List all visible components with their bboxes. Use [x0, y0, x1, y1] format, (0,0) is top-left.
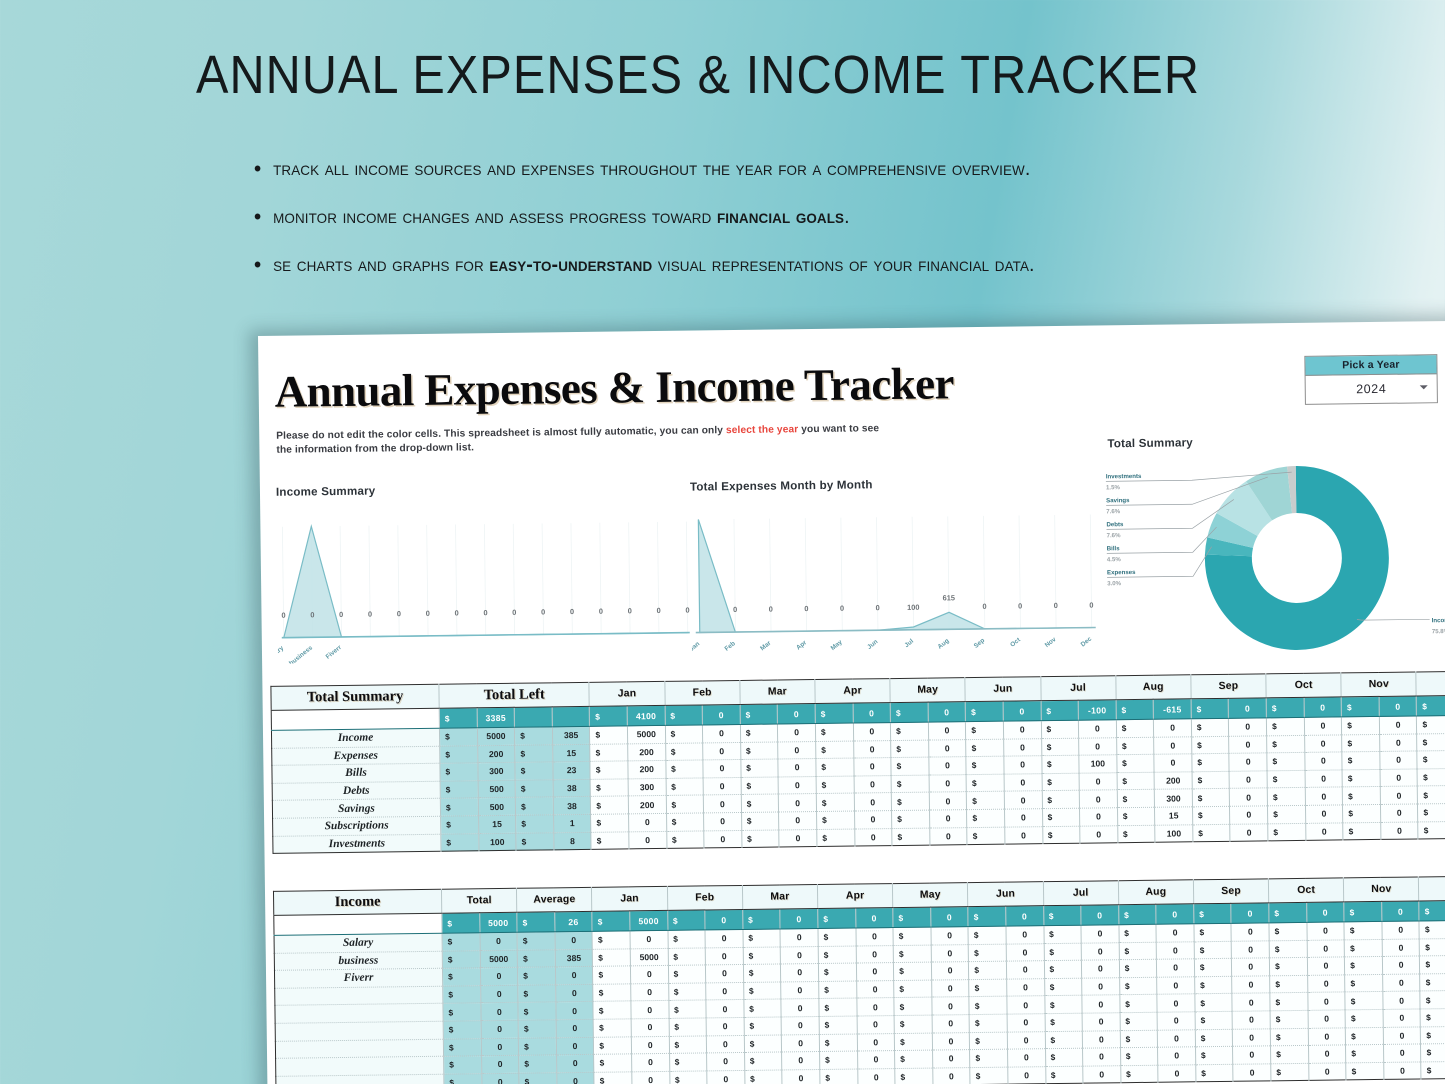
- cell-currency: $: [590, 743, 628, 761]
- svg-text:0: 0: [599, 607, 603, 616]
- row-label: [275, 1004, 443, 1024]
- cell-value: 0: [931, 962, 969, 980]
- svg-text:0: 0: [804, 604, 808, 613]
- cell-currency: $: [893, 927, 931, 945]
- cell-currency: $: [1193, 824, 1231, 842]
- cell-currency: $: [815, 723, 853, 741]
- cell-value: 0: [778, 704, 816, 724]
- cell-currency: $: [668, 983, 706, 1001]
- cell-currency: $: [965, 701, 1003, 721]
- cell-value: 0: [855, 908, 893, 928]
- cell-currency: $: [1042, 791, 1080, 809]
- cell-currency: $: [594, 1036, 632, 1054]
- cell-currency: $: [517, 949, 555, 967]
- svg-text:0: 0: [733, 605, 737, 614]
- cell-value: 0: [853, 758, 891, 776]
- cell-currency: $: [1192, 771, 1230, 789]
- cell-value: 0: [782, 1069, 820, 1084]
- cell-currency: $: [743, 964, 781, 982]
- cell-value: 0: [1007, 1014, 1045, 1032]
- cell-value: 0: [629, 831, 667, 849]
- cell-currency: $: [592, 911, 630, 931]
- cell-currency: $: [669, 1035, 707, 1053]
- cell-currency: $: [1117, 754, 1155, 772]
- feature-bullet: se charts and graphs for easy-to-underst…: [252, 248, 1145, 282]
- cell-currency: $: [440, 798, 478, 816]
- cell-currency: $: [590, 726, 628, 744]
- svg-text:Mar: Mar: [759, 639, 773, 652]
- cell-currency: $: [441, 833, 479, 851]
- cell-value: 100: [1079, 755, 1117, 773]
- cell-currency: $: [1268, 823, 1306, 841]
- chart-income-summary: Income Summary 000000000000000 Salarybus…: [276, 481, 698, 671]
- cell-value: 0: [1383, 1044, 1421, 1062]
- cell-value: 0: [1005, 826, 1043, 844]
- cell-currency: $: [1345, 957, 1383, 975]
- column-header-may: May: [893, 883, 968, 908]
- cell-value: 0: [1082, 960, 1120, 978]
- cell-currency: $: [440, 781, 478, 799]
- cell-currency: $: [1269, 940, 1307, 958]
- column-header-feb: Feb: [667, 885, 742, 910]
- cell-currency: $: [440, 745, 478, 763]
- column-header-jun: Jun: [968, 882, 1043, 907]
- cell-currency: $: [1343, 787, 1381, 805]
- column-header-apr: Apr: [817, 884, 892, 909]
- cell-currency: $: [442, 968, 480, 986]
- cell-value: 0: [1080, 808, 1118, 826]
- cell-currency: $: [516, 797, 554, 815]
- row-label: [275, 1021, 443, 1041]
- cell-value: 0: [1232, 958, 1270, 976]
- cell-currency: $: [518, 967, 556, 985]
- cell-value: 0: [1380, 751, 1418, 769]
- cell-value: 0: [1233, 1064, 1271, 1082]
- cell-currency: $: [1344, 921, 1382, 939]
- cell-value: 0: [1004, 738, 1042, 756]
- cell-value: 0: [707, 1053, 745, 1071]
- cell-currency: $: [1343, 822, 1381, 840]
- cell-value: 0: [1308, 1010, 1346, 1028]
- cell-value: 0: [1382, 901, 1420, 921]
- cell-currency: $: [515, 744, 553, 762]
- cell-currency: $: [968, 906, 1006, 926]
- cell-value: 5000: [480, 950, 518, 968]
- cell-value: 0: [856, 963, 894, 981]
- cell-value: 300: [628, 778, 666, 796]
- cell-currency: $: [1419, 920, 1445, 938]
- cell-value: 385: [552, 726, 590, 744]
- table-corner-label: Income: [273, 889, 441, 915]
- cell-value: 0: [779, 794, 817, 812]
- cell-value: 0: [1306, 902, 1344, 922]
- cell-currency: $: [816, 741, 854, 759]
- cell-currency: $: [1345, 1009, 1383, 1027]
- svg-text:0: 0: [982, 602, 986, 611]
- cell-currency: $: [1419, 900, 1445, 920]
- svg-text:Sep: Sep: [973, 637, 987, 650]
- cell-currency: $: [1045, 1066, 1083, 1084]
- cell-value: 0: [1078, 720, 1116, 738]
- row-label: Bills: [272, 763, 440, 783]
- cell-value: 0: [853, 703, 891, 723]
- cell-currency: $: [1191, 698, 1229, 718]
- cell-value: 0: [1081, 925, 1119, 943]
- cell-currency: $: [1042, 773, 1080, 791]
- cell-currency: $: [1117, 825, 1155, 843]
- cell-currency: $: [1420, 938, 1445, 956]
- cell-currency: $: [1345, 992, 1383, 1010]
- svg-text:Nov: Nov: [1044, 636, 1058, 649]
- cell-value: 0: [780, 909, 818, 929]
- cell-value: 0: [781, 999, 819, 1017]
- cell-currency: $: [444, 1056, 482, 1074]
- cell-value: 0: [1157, 977, 1195, 995]
- column-header-sep: Sep: [1193, 879, 1268, 904]
- cell-value: 0: [705, 909, 743, 929]
- feature-bullet: Track all income sources and expenses th…: [252, 152, 1145, 186]
- svg-text:Apr: Apr: [795, 639, 808, 652]
- column-header-total-left: Total Left: [439, 682, 590, 708]
- cell-value: 0: [1233, 1046, 1271, 1064]
- svg-text:0: 0: [281, 611, 285, 620]
- cell-currency: $: [442, 913, 480, 933]
- cell-currency: $: [818, 928, 856, 946]
- cell-value: 0: [705, 929, 743, 947]
- cell-value: 0: [1305, 770, 1343, 788]
- chevron-down-icon: [1420, 385, 1428, 389]
- cell-currency: $: [440, 763, 478, 781]
- cell-value: 0: [1229, 735, 1267, 753]
- cell-currency: $: [518, 1020, 556, 1038]
- cell-value: -100: [1078, 700, 1116, 720]
- cell-currency: $: [1421, 1061, 1445, 1079]
- cell-value: 0: [1157, 994, 1195, 1012]
- svg-text:Fiverr: Fiverr: [325, 644, 344, 661]
- cell-currency: $: [665, 705, 703, 725]
- cell-currency: $: [816, 758, 854, 776]
- cell-value: 0: [632, 1071, 670, 1084]
- cell-currency: $: [593, 966, 631, 984]
- cell-value: 0: [1158, 1065, 1196, 1083]
- cell-value: 8: [554, 832, 592, 850]
- cell-currency: $: [1120, 995, 1158, 1013]
- cell-value: 0: [706, 965, 744, 983]
- cell-currency: $: [1345, 974, 1383, 992]
- cell-value: 0: [1154, 754, 1192, 772]
- cell-currency: $: [591, 814, 629, 832]
- svg-text:Debts: Debts: [1106, 521, 1124, 528]
- cell-currency: $: [519, 1037, 557, 1055]
- cell-value: 0: [932, 1050, 970, 1068]
- note-highlight: select the year: [726, 424, 798, 436]
- svg-text:Jan: Jan: [690, 641, 701, 653]
- cell-value: 3385: [477, 707, 515, 727]
- cell-currency: $: [1117, 772, 1155, 790]
- cell-currency: $: [668, 930, 706, 948]
- cell-currency: $: [891, 722, 929, 740]
- svg-text:0: 0: [685, 606, 689, 615]
- svg-text:May: May: [830, 639, 844, 653]
- cell-currency: $: [1417, 715, 1445, 733]
- cell-currency: $: [1269, 958, 1307, 976]
- cell-value: 0: [557, 1072, 595, 1084]
- cell-currency: $: [665, 743, 703, 761]
- svg-text:615: 615: [943, 593, 955, 602]
- cell-value: 0: [1158, 1029, 1196, 1047]
- cell-value: 15: [478, 815, 516, 833]
- cell-currency: $: [818, 908, 856, 928]
- cell-value: 0: [778, 724, 816, 742]
- cell-currency: $: [893, 907, 931, 927]
- year-dropdown[interactable]: 2024: [1306, 374, 1437, 404]
- cell-value: 0: [704, 812, 742, 830]
- svg-text:Bills: Bills: [1107, 545, 1121, 552]
- cell-currency: $: [1196, 1064, 1234, 1082]
- cell-value: 0: [706, 1017, 744, 1035]
- cell-currency: $: [1116, 737, 1154, 755]
- cell-value: 0: [854, 775, 892, 793]
- cell-value: 0: [1004, 756, 1042, 774]
- cell-currency: $: [818, 946, 856, 964]
- row-label: Debts: [272, 781, 440, 801]
- cell-currency: $: [1192, 806, 1230, 824]
- cell-value: 0: [1081, 905, 1119, 925]
- cell-value: 0: [480, 932, 518, 950]
- cell-currency: $: [1420, 956, 1445, 974]
- cell-value: 0: [780, 929, 818, 947]
- cell-value: 0: [929, 792, 967, 810]
- cell-currency: $: [1044, 978, 1082, 996]
- svg-text:Aug: Aug: [937, 637, 951, 650]
- cell-currency: $: [1343, 804, 1381, 822]
- cell-value: 0: [857, 1016, 895, 1034]
- cell-currency: $: [745, 1070, 783, 1084]
- cell-currency: $: [1119, 977, 1157, 995]
- cell-currency: $: [1342, 734, 1380, 752]
- cell-currency: $: [591, 831, 629, 849]
- cell-currency: $: [1191, 718, 1229, 736]
- cell-currency: $: [515, 780, 553, 798]
- cell-value: 0: [932, 997, 970, 1015]
- cell-currency: $: [667, 910, 705, 930]
- cell-currency: $: [968, 926, 1006, 944]
- pick-a-year-widget[interactable]: Pick a Year 2024: [1304, 354, 1438, 405]
- row-label: Expenses: [272, 746, 440, 766]
- cell-currency: $: [1195, 1046, 1233, 1064]
- spreadsheet-title: Annual Expenses & Income Tracker: [274, 357, 954, 418]
- cell-value: 0: [1079, 773, 1117, 791]
- cell-value: 0: [630, 930, 668, 948]
- cell-value: 0: [857, 1051, 895, 1069]
- cell-currency: $: [1041, 720, 1079, 738]
- cell-value: 200: [1154, 772, 1192, 790]
- table-income-body: Total$5000$26$5000$0$0$0$0$0$0$0$0$0$0$0…: [274, 900, 1445, 1084]
- cell-currency: $: [1191, 736, 1229, 754]
- cell-currency: $: [1042, 826, 1080, 844]
- cell-value: 0: [856, 928, 894, 946]
- cell-currency: $: [439, 708, 477, 728]
- cell-value: 0: [556, 1054, 594, 1072]
- cell-value: 0: [1157, 1012, 1195, 1030]
- cell-value: 0: [1308, 1063, 1346, 1081]
- cell-value: 0: [481, 1055, 519, 1073]
- cell-value: 200: [628, 743, 666, 761]
- cell-value: 0: [481, 1038, 519, 1056]
- cell-currency: $: [1417, 751, 1445, 769]
- cell-currency: $: [819, 1034, 857, 1052]
- cell-value: 0: [1007, 978, 1045, 996]
- cell-currency: $: [594, 1072, 632, 1084]
- cell-value: 0: [1380, 769, 1418, 787]
- cell-value: 0: [1233, 1011, 1271, 1029]
- svg-text:Oct: Oct: [1009, 636, 1022, 649]
- cell-currency: $: [668, 1000, 706, 1018]
- cell-value: 0: [706, 982, 744, 1000]
- cell-currency: $: [741, 812, 779, 830]
- cell-currency: $: [1195, 994, 1233, 1012]
- cell-value: 0: [1157, 959, 1195, 977]
- cell-currency: $: [1120, 1030, 1158, 1048]
- cell-value: 15: [1155, 807, 1193, 825]
- cell-value: 0: [1229, 718, 1267, 736]
- cell-value: 15: [552, 744, 590, 762]
- cell-currency: $: [1346, 1027, 1384, 1045]
- cell-value: 0: [480, 1003, 518, 1021]
- cell-currency: $: [744, 1017, 782, 1035]
- cell-value: 0: [1233, 1028, 1271, 1046]
- cell-currency: $: [894, 1033, 932, 1051]
- chart-income-summary-svg: 000000000000000 SalarybusinessFiverr: [276, 494, 698, 664]
- cell-currency: $: [1044, 943, 1082, 961]
- column-header-aug: Aug: [1118, 880, 1193, 905]
- cell-value: 0: [1308, 1027, 1346, 1045]
- cell-value: 0: [928, 722, 966, 740]
- cell-currency: $: [740, 742, 778, 760]
- cell-value: 0: [1231, 923, 1269, 941]
- cell-currency: $: [1420, 991, 1445, 1009]
- cell-value: 0: [631, 983, 669, 1001]
- cell-currency: $: [816, 776, 854, 794]
- svg-text:Income: Income: [1432, 617, 1445, 624]
- svg-text:4.5%: 4.5%: [1107, 556, 1122, 563]
- cell-value: 0: [480, 985, 518, 1003]
- cell-currency: $: [818, 963, 856, 981]
- cell-value: 0: [929, 810, 967, 828]
- column-header-jan: Jan: [592, 886, 667, 911]
- cell-value: 0: [1379, 696, 1417, 716]
- table-total-summary: Total SummaryTotal LeftJanFebMarAprMayJu…: [270, 671, 1445, 854]
- cell-value: 0: [1079, 737, 1117, 755]
- cell-currency: $: [1267, 753, 1305, 771]
- svg-text:0: 0: [397, 609, 401, 618]
- cell-value: 0: [931, 944, 969, 962]
- cell-currency: $: [593, 984, 631, 1002]
- svg-text:0: 0: [769, 605, 773, 614]
- cell-value: 0: [932, 1015, 970, 1033]
- svg-text:0: 0: [1089, 601, 1093, 610]
- row-label: Income: [271, 728, 439, 748]
- cell-currency: $: [666, 830, 704, 848]
- cell-value: 0: [632, 1054, 670, 1072]
- cell-value: 0: [1305, 787, 1343, 805]
- cell-value: 0: [1232, 940, 1270, 958]
- cell-value: 26: [555, 911, 593, 931]
- cell-currency: $: [966, 739, 1004, 757]
- cell-currency: $: [1267, 788, 1305, 806]
- cell-currency: $: [1044, 960, 1082, 978]
- cell-currency: $: [517, 932, 555, 950]
- cell-currency: $: [515, 727, 553, 745]
- cell-value: 0: [854, 811, 892, 829]
- feature-bullet: Monitor income changes and assess progre…: [252, 200, 1145, 234]
- cell-value: 0: [932, 1032, 970, 1050]
- svg-text:Expenses: Expenses: [1107, 569, 1136, 576]
- cell-currency: $: [665, 760, 703, 778]
- cell-currency: $: [966, 774, 1004, 792]
- svg-text:Savings: Savings: [1106, 497, 1130, 504]
- cell-currency: $: [969, 979, 1007, 997]
- cell-currency: $: [966, 721, 1004, 739]
- cell-value: 4100: [627, 705, 665, 725]
- cell-value: 0: [1008, 1066, 1046, 1084]
- cell-currency: $: [967, 792, 1005, 810]
- cell-value: 0: [779, 811, 817, 829]
- cell-value: 0: [1382, 921, 1420, 939]
- cell-currency: $: [444, 1074, 482, 1084]
- cell-value: -615: [1153, 699, 1191, 719]
- column-header-may: May: [890, 678, 965, 703]
- spreadsheet-note: Please do not edit the color cells. This…: [276, 422, 896, 459]
- cell-currency: $: [891, 740, 929, 758]
- cell-value: 0: [781, 1016, 819, 1034]
- cell-value: 0: [929, 757, 967, 775]
- column-header-jun: Jun: [965, 677, 1040, 702]
- cell-currency: $: [892, 810, 930, 828]
- cell-currency: $: [441, 816, 479, 834]
- cell-value: 23: [553, 762, 591, 780]
- cell-currency: $: [1270, 1010, 1308, 1028]
- chart-total-expenses: Total Expenses Month by Month 0000010061…: [690, 475, 1102, 665]
- svg-text:1.5%: 1.5%: [1106, 484, 1121, 491]
- cell-value: 0: [555, 967, 593, 985]
- cell-value: 0: [1379, 734, 1417, 752]
- page-title: ANNUAL EXPENSES & INCOME TRACKER: [196, 44, 1200, 106]
- cell-value: 0: [1232, 993, 1270, 1011]
- cell-currency: $: [819, 1016, 857, 1034]
- cell-value: 5000: [627, 725, 665, 743]
- cell-value: 0: [1083, 1065, 1121, 1083]
- cell-value: 0: [781, 946, 819, 964]
- cell-currency: $: [890, 702, 928, 722]
- row-label: Fiverr: [274, 968, 442, 988]
- cell-value: 0: [782, 1034, 820, 1052]
- cell-currency: $: [668, 965, 706, 983]
- cell-currency: $: [893, 945, 931, 963]
- cell-currency: $: [817, 829, 855, 847]
- cell-value: 0: [1229, 698, 1267, 718]
- cell-currency: $: [669, 1018, 707, 1036]
- cell-value: 0: [1007, 1031, 1045, 1049]
- column-header-apr: Apr: [815, 679, 890, 704]
- cell-currency: $: [668, 948, 706, 966]
- cell-currency: $: [744, 1035, 782, 1053]
- cell-currency: $: [439, 728, 477, 746]
- cell-currency: $: [969, 961, 1007, 979]
- cell-currency: $: [442, 950, 480, 968]
- cell-currency: $: [1418, 786, 1445, 804]
- cell-currency: $: [442, 933, 480, 951]
